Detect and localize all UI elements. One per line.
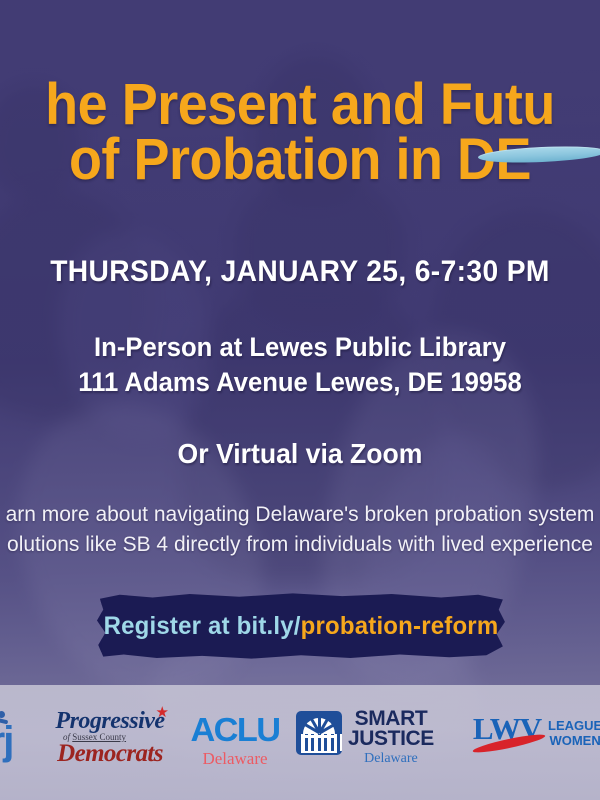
event-poster: he Present and Futu of Probation in DE T… xyxy=(0,0,600,800)
logo-crj: rj xyxy=(0,709,24,757)
lwv-mark: LWV xyxy=(468,713,546,759)
venue-line-1: In-Person at Lewes Public Library xyxy=(15,330,585,365)
register-prefix: Register at bit.ly/ xyxy=(104,612,301,641)
lwv-side-line-2: WOMEN xyxy=(548,734,600,749)
register-banner[interactable]: Register at bit.ly/probation-reform xyxy=(95,592,507,660)
star-icon: ★ xyxy=(156,705,169,720)
sj-line-smart: SMART xyxy=(348,709,434,729)
lwv-side-text: LEAGUE WOMEN xyxy=(548,719,600,748)
crj-wordmark: rj xyxy=(0,725,24,757)
title-line-1: he Present and Futu xyxy=(0,78,600,133)
aclu-wordmark: ACLU xyxy=(178,713,292,746)
virtual-option: Or Virtual via Zoom xyxy=(15,438,585,470)
logo-progressive-democrats: ★ Progressive of Sussex County Democrats xyxy=(45,709,175,766)
logo-smart-justice: SMART JUSTICE Delaware xyxy=(296,709,434,767)
register-link[interactable]: Register at bit.ly/probation-reform xyxy=(103,592,499,660)
description-line-1: arn more about navigating Delaware's bro… xyxy=(0,500,600,530)
pd-line-democrats: Democrats xyxy=(45,741,175,766)
event-datetime: THURSDAY, JANUARY 25, 6-7:30 PM xyxy=(18,255,582,289)
page-title: he Present and Futu of Probation in DE xyxy=(0,78,600,187)
logo-lwv: LWV LEAGUE WOMEN xyxy=(468,713,600,759)
venue-line-2: 111 Adams Avenue Lewes, DE 19958 xyxy=(15,365,585,400)
sponsor-logo-strip: rj ★ Progressive of Sussex County Democr… xyxy=(0,685,600,800)
event-description: arn more about navigating Delaware's bro… xyxy=(0,500,600,560)
description-line-2: olutions like SB 4 directly from individ… xyxy=(0,530,600,560)
event-venue: In-Person at Lewes Public Library 111 Ad… xyxy=(15,330,585,399)
logo-aclu: ACLU Delaware xyxy=(180,713,290,769)
sunburst-bars-icon xyxy=(296,711,342,755)
crj-figures-icon xyxy=(0,709,24,727)
sj-state: Delaware xyxy=(348,751,434,767)
aclu-state: Delaware xyxy=(180,749,290,769)
lwv-side-line-1: LEAGUE xyxy=(548,719,600,734)
poster-content: he Present and Futu of Probation in DE T… xyxy=(0,0,600,800)
register-slug: probation-reform xyxy=(301,612,499,641)
sj-line-justice: JUSTICE xyxy=(348,729,434,749)
